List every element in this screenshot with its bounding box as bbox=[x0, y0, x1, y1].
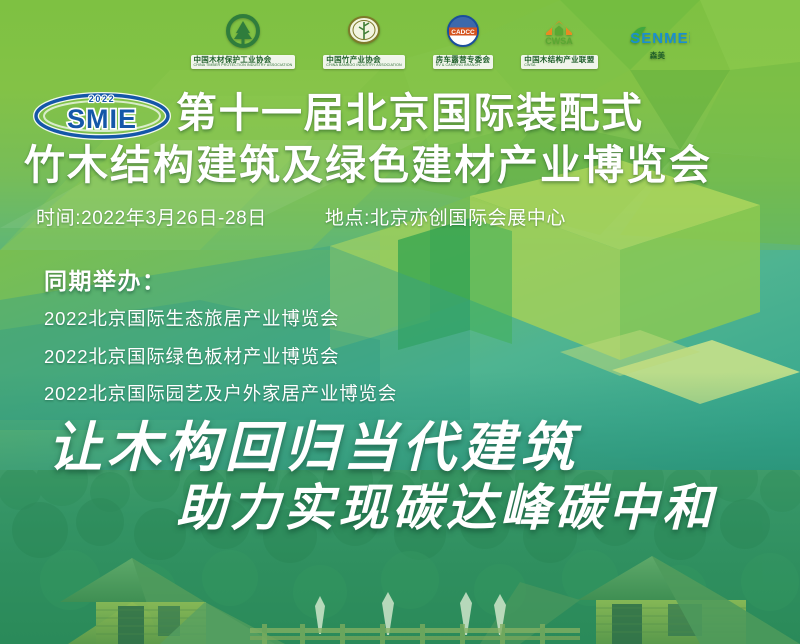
exhibition-poster: 中国木材保护工业协会 CHINA TIMBER PROTECTION INDUS… bbox=[0, 0, 800, 644]
smie-logo-icon: 2022 SMIE bbox=[32, 88, 172, 140]
senmei-leaf-icon: SENMEi bbox=[626, 22, 690, 50]
bamboo-seal-icon bbox=[344, 13, 384, 53]
svg-text:CADCC: CADCC bbox=[451, 29, 475, 36]
association-logo-bar: 中国木材保护工业协会 CHINA TIMBER PROTECTION INDUS… bbox=[0, 0, 800, 82]
headline-line-2: 竹木结构建筑及绿色建材产业博览会 bbox=[24, 140, 800, 190]
svg-text:SENMEi: SENMEi bbox=[630, 30, 690, 47]
tree-shield-icon bbox=[223, 13, 263, 53]
assoc-label-3: 中国木结构产业联盟 CWSA bbox=[521, 55, 597, 69]
smie-logo: 2022 SMIE bbox=[32, 88, 172, 140]
assoc-label-2: 房车露营专委会 RV & CAMPING BRANCH bbox=[433, 55, 494, 69]
house-cwsa-icon: CWSA bbox=[539, 13, 579, 53]
cadcc-badge-icon: CADCC bbox=[443, 13, 483, 53]
assoc-logo-0: 中国木材保护工业协会 CHINA TIMBER PROTECTION INDUS… bbox=[191, 13, 296, 69]
concurrent-item-1: 2022北京国际绿色板材产业博览会 bbox=[44, 348, 397, 367]
assoc-logo-3: CWSA 中国木结构产业联盟 CWSA bbox=[521, 13, 597, 69]
event-date: 时间:2022年3月26日-28日 bbox=[36, 203, 267, 230]
assoc-label-1: 中国竹产业协会 CHINA BAMBOO INDUSTRY ASSOCIATIO… bbox=[323, 55, 404, 69]
assoc-logo-2: CADCC 房车露营专委会 RV & CAMPING BRANCH bbox=[433, 13, 494, 69]
assoc-label-0: 中国木材保护工业协会 CHINA TIMBER PROTECTION INDUS… bbox=[191, 55, 296, 69]
assoc-logo-4: SENMEi 森美 bbox=[626, 22, 690, 60]
event-meta: 时间:2022年3月26日-28日 地点:北京亦创国际会展中心 bbox=[36, 203, 566, 230]
concurrent-events: 同期举办： 2022北京国际生态旅居产业博览会 2022北京国际绿色板材产业博览… bbox=[44, 262, 397, 423]
concurrent-item-2: 2022北京国际园艺及户外家居产业博览会 bbox=[44, 385, 397, 404]
svg-text:CWSA: CWSA bbox=[546, 36, 574, 46]
log-cabins-illustration bbox=[0, 540, 800, 644]
slogan: 让木构回归当代建筑 助力实现碳达峰碳中和 bbox=[0, 414, 800, 540]
concurrent-item-0: 2022北京国际生态旅居产业博览会 bbox=[44, 310, 397, 329]
assoc-label-4: 森美 bbox=[650, 52, 666, 60]
headline-line-1: 第十一届北京国际装配式 bbox=[176, 88, 800, 138]
event-venue: 地点:北京亦创国际会展中心 bbox=[325, 203, 566, 230]
slogan-line-2: 助力实现碳达峰碳中和 bbox=[176, 476, 800, 540]
concurrent-title: 同期举办： bbox=[44, 262, 397, 296]
svg-text:SMIE: SMIE bbox=[67, 104, 137, 134]
svg-text:2022: 2022 bbox=[89, 94, 115, 104]
slogan-line-1: 让木构回归当代建筑 bbox=[48, 414, 800, 480]
assoc-logo-1: 中国竹产业协会 CHINA BAMBOO INDUSTRY ASSOCIATIO… bbox=[323, 13, 404, 69]
